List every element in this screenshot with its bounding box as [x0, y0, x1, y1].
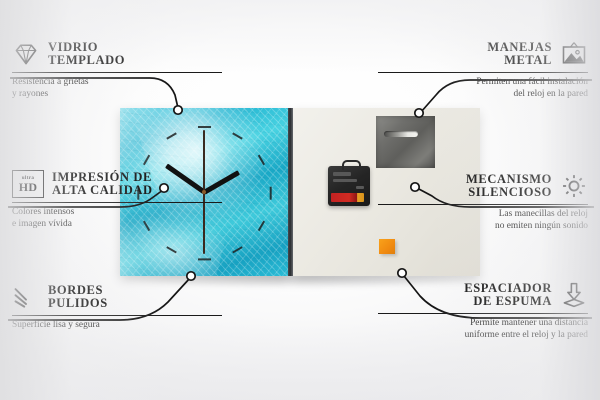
callout-manejas-metal: MANEJAS METAL Permiten una fácil instala… — [378, 40, 588, 100]
clock-center-pin — [202, 190, 206, 194]
callout-header: ultra HD IMPRESIÓN DE ALTA CALIDAD — [12, 170, 222, 198]
metal-hanger-plate — [376, 116, 435, 168]
callout-description: Las manecillas del reloj no emiten ningú… — [378, 209, 588, 232]
mechanism-loop — [342, 160, 361, 170]
gear-icon — [560, 172, 588, 200]
clock-mechanism — [328, 166, 370, 206]
callout-header: VIDRIO TEMPLADO — [12, 40, 222, 68]
callout-bordes-pulidos: BORDES PULIDOS Superficie lisa y segura — [12, 283, 222, 332]
callout-rule — [378, 204, 588, 205]
callout-vidrio-templado: VIDRIO TEMPLADO Resistencia a grietas y … — [12, 40, 222, 100]
callout-title: MECANISMO SILENCIOSO — [466, 173, 552, 200]
hanger-slot — [384, 131, 418, 137]
callout-rule — [378, 72, 588, 73]
clock-tick — [198, 126, 211, 128]
picture-frame-hanger-icon — [560, 40, 588, 68]
polished-edges-icon — [12, 283, 40, 311]
callout-header: BORDES PULIDOS — [12, 283, 222, 311]
diamond-icon — [12, 40, 40, 68]
callout-title: MANEJAS METAL — [487, 41, 552, 68]
mechanism-detail — [333, 172, 351, 176]
callout-header: MANEJAS METAL — [378, 40, 588, 68]
callout-description: Permite mantener una distancia uniforme … — [378, 318, 588, 341]
mechanism-battery-strip — [331, 193, 364, 202]
callout-title: IMPRESIÓN DE ALTA CALIDAD — [52, 171, 153, 198]
callout-description: Permiten una fácil instalación del reloj… — [378, 77, 588, 100]
clock-tick — [269, 187, 271, 200]
callout-rule — [12, 315, 222, 316]
callout-rule — [12, 72, 222, 73]
mechanism-detail — [333, 179, 357, 182]
mechanism-detail — [356, 186, 364, 189]
ultra-hd-icon: ultra HD — [12, 170, 44, 198]
callout-impresion-alta-calidad: ultra HD IMPRESIÓN DE ALTA CALIDAD Color… — [12, 170, 222, 230]
clock-tick — [198, 258, 211, 260]
callout-description: Resistencia a grietas y rayones — [12, 77, 222, 100]
callout-title: ESPACIADOR DE ESPUMA — [464, 282, 552, 309]
callout-rule — [12, 202, 222, 203]
callout-header: ESPACIADOR DE ESPUMA — [378, 281, 588, 309]
foam-spacer-icon — [560, 281, 588, 309]
callout-rule — [378, 313, 588, 314]
callout-header: MECANISMO SILENCIOSO — [378, 172, 588, 200]
infographic-canvas: VIDRIO TEMPLADO Resistencia a grietas y … — [0, 0, 600, 400]
callout-description: Colores intensos e imagen vívida — [12, 207, 222, 230]
callout-title: VIDRIO TEMPLADO — [48, 41, 125, 68]
orange-foam-spacer — [379, 239, 395, 254]
callout-description: Superficie lisa y segura — [12, 320, 222, 332]
callout-title: BORDES PULIDOS — [48, 284, 108, 311]
callout-mecanismo-silencioso: MECANISMO SILENCIOSO Las manecillas del … — [378, 172, 588, 232]
callout-espaciador-de-espuma: ESPACIADOR DE ESPUMA Permite mantener un… — [378, 281, 588, 341]
